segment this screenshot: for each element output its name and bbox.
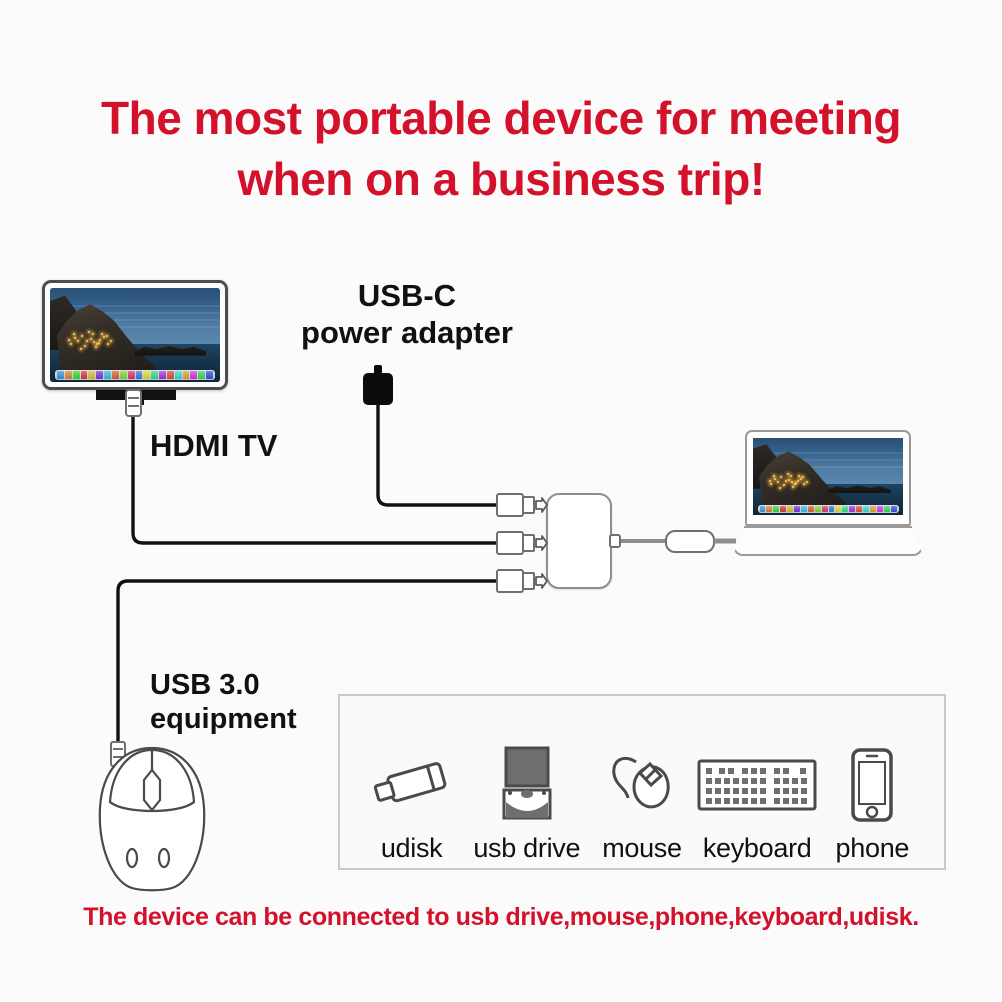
device-label: phone	[836, 833, 910, 864]
power-cable	[378, 405, 497, 505]
supported-devices-panel: udisk usb drive	[338, 694, 946, 870]
hdmi-plug	[126, 390, 141, 416]
udisk-icon	[370, 739, 454, 831]
device-item-udisk[interactable]: udisk	[356, 739, 468, 864]
connect-arrow-icons	[536, 498, 547, 588]
device-item-phone[interactable]: phone	[816, 739, 928, 864]
usb-c-lead	[610, 531, 736, 552]
device-item-keyboard[interactable]: keyboard	[701, 739, 813, 864]
hdmi-cable	[133, 418, 497, 543]
keyboard-icon	[697, 739, 817, 831]
device-item-mouse[interactable]: mouse	[586, 739, 698, 864]
device-label: udisk	[381, 833, 443, 864]
device-label: usb drive	[473, 833, 580, 864]
footer-caption: The device can be connected to usb drive…	[0, 903, 1002, 932]
device-label: mouse	[602, 833, 682, 864]
hub-port-connectors	[497, 494, 534, 592]
usb-drive-icon	[497, 739, 557, 831]
usb3-equipment-label: USB 3.0 equipment	[150, 668, 297, 736]
mouse-side-button-left	[127, 849, 137, 867]
device-label: keyboard	[703, 833, 812, 864]
mouse-icon	[606, 739, 678, 831]
mouse-side-button-right	[159, 849, 169, 867]
phone-icon	[850, 739, 894, 831]
infographic-canvas: The most portable device for meeting whe…	[0, 0, 1002, 1002]
usb-c-plug	[666, 531, 714, 552]
mouse-cord	[614, 758, 636, 798]
device-item-usb-drive[interactable]: usb drive	[471, 739, 583, 864]
mouse-scroll-wheel	[144, 770, 160, 810]
mouse-illustration	[88, 742, 216, 894]
